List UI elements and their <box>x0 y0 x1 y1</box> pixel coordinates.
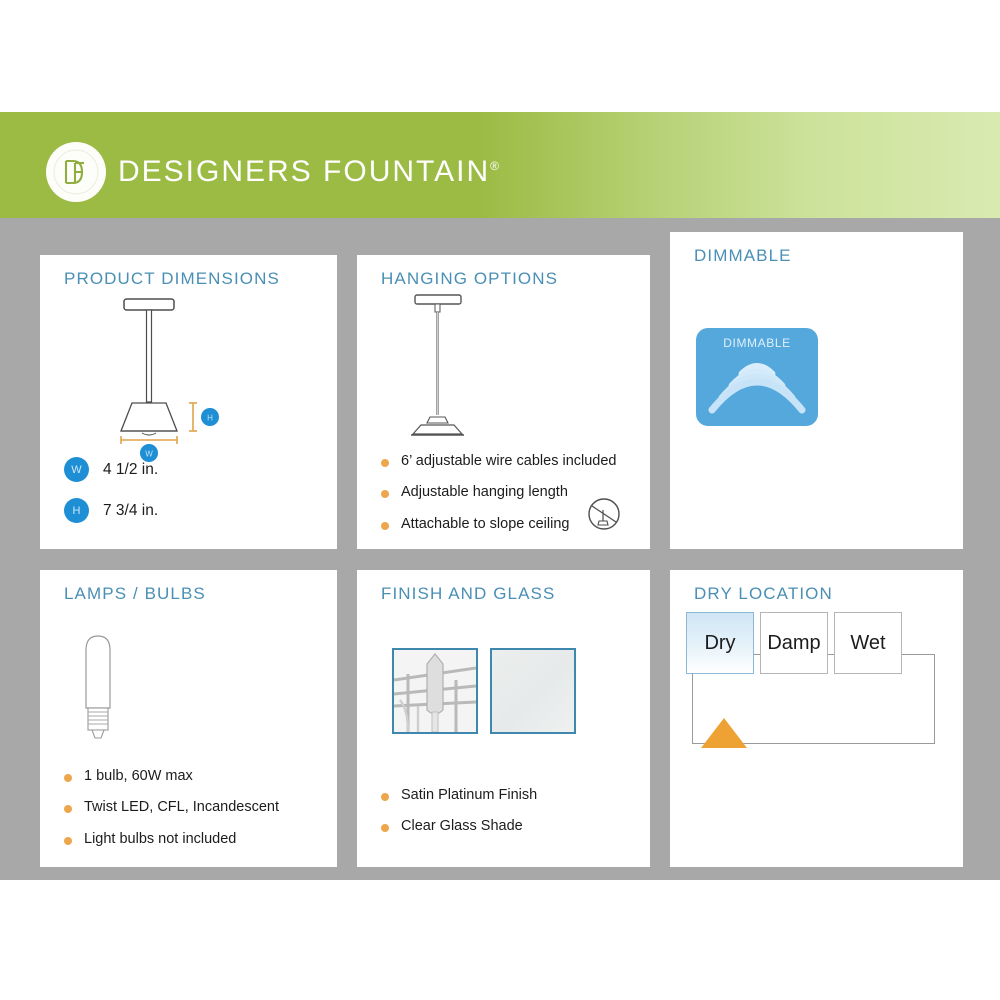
clear-glass-swatch-icon <box>490 648 576 734</box>
list-item: Clear Glass Shade <box>381 818 537 835</box>
location-option-dry[interactable]: Dry <box>686 612 754 674</box>
card-title-lamps-bulbs: LAMPS / BULBS <box>64 584 206 604</box>
list-item: Adjustable hanging length <box>381 484 616 501</box>
bullet-text: Light bulbs not included <box>84 831 236 848</box>
dimension-measurements-list: W 4 1/2 in. H 7 3/4 in. <box>64 457 158 539</box>
brand-name-text: DESIGNERS FOUNTAIN <box>118 155 490 188</box>
svg-text:H: H <box>207 414 213 423</box>
tubular-bulb-icon <box>68 626 128 751</box>
bullet-dot-icon <box>64 805 72 813</box>
bullet-text: 6’ adjustable wire cables included <box>401 453 616 470</box>
df-monogram-logo-icon <box>46 142 106 202</box>
dimension-row-height: H 7 3/4 in. <box>64 498 158 523</box>
bullet-dot-icon <box>381 793 389 801</box>
dimension-row-width: W 4 1/2 in. <box>64 457 158 482</box>
width-value: 4 1/2 in. <box>103 461 158 479</box>
location-option-wet[interactable]: Wet <box>834 612 902 674</box>
brand-name: DESIGNERS FOUNTAIN® <box>118 155 499 189</box>
hanging-options-bullets: 6’ adjustable wire cables included Adjus… <box>381 453 616 547</box>
orange-triangle-pointer-icon <box>701 718 747 748</box>
list-item: Attachable to slope ceiling <box>381 516 616 533</box>
card-product-dimensions: PRODUCT DIMENSIONS H <box>40 255 337 549</box>
list-item: Satin Platinum Finish <box>381 787 537 804</box>
bullet-text: Attachable to slope ceiling <box>401 516 569 533</box>
list-item: 6’ adjustable wire cables included <box>381 453 616 470</box>
card-hanging-options: HANGING OPTIONS 6’ adjustable wire cable… <box>357 255 650 549</box>
card-finish-and-glass: FINISH AND GLASS <box>357 570 650 867</box>
bullet-text: Clear Glass Shade <box>401 818 523 835</box>
width-badge: W <box>64 457 89 482</box>
list-item: Light bulbs not included <box>64 831 279 848</box>
card-title-dry-location: DRY LOCATION <box>694 584 833 604</box>
card-title-dimmable: DIMMABLE <box>694 246 792 266</box>
bullet-dot-icon <box>381 824 389 832</box>
bullet-dot-icon <box>64 837 72 845</box>
product-spec-sheet: DESIGNERS FOUNTAIN® PRODUCT DIMENSIONS <box>0 0 1000 1000</box>
bullet-text: Satin Platinum Finish <box>401 787 537 804</box>
slope-ceiling-icon <box>587 497 621 536</box>
pendant-light-dimension-diagram-icon: H W <box>62 291 242 461</box>
bullet-text: Twist LED, CFL, Incandescent <box>84 799 279 816</box>
bullet-text: 1 bulb, 60W max <box>84 768 193 785</box>
height-value: 7 3/4 in. <box>103 502 158 520</box>
bullet-dot-icon <box>381 490 389 498</box>
card-title-hanging-options: HANGING OPTIONS <box>381 269 558 289</box>
card-title-product-dimensions: PRODUCT DIMENSIONS <box>64 269 280 289</box>
bullet-dot-icon <box>381 522 389 530</box>
satin-platinum-metal-swatch-icon <box>392 648 478 734</box>
bullet-dot-icon <box>64 774 72 782</box>
dimmable-waves-icon: DIMMABLE <box>696 328 818 426</box>
list-item: 1 bulb, 60W max <box>64 768 279 785</box>
location-options-group: Dry Damp Wet <box>686 612 908 674</box>
bullet-dot-icon <box>381 459 389 467</box>
finish-and-glass-bullets: Satin Platinum Finish Clear Glass Shade <box>381 787 537 850</box>
card-dry-location: DRY LOCATION Dry Damp Wet <box>670 570 963 867</box>
lamps-bulbs-bullets: 1 bulb, 60W max Twist LED, CFL, Incandes… <box>64 768 279 862</box>
location-option-damp[interactable]: Damp <box>760 612 828 674</box>
list-item: Twist LED, CFL, Incandescent <box>64 799 279 816</box>
card-title-finish-and-glass: FINISH AND GLASS <box>381 584 555 604</box>
bullet-text: Adjustable hanging length <box>401 484 568 501</box>
card-lamps-bulbs: LAMPS / BULBS 1 bulb, 60W max Twist LED,… <box>40 570 337 867</box>
height-badge: H <box>64 498 89 523</box>
registered-trademark-icon: ® <box>490 159 499 173</box>
card-dimmable: DIMMABLE DIMMABLE <box>670 232 963 549</box>
pendant-hanging-diagram-icon <box>377 289 517 454</box>
